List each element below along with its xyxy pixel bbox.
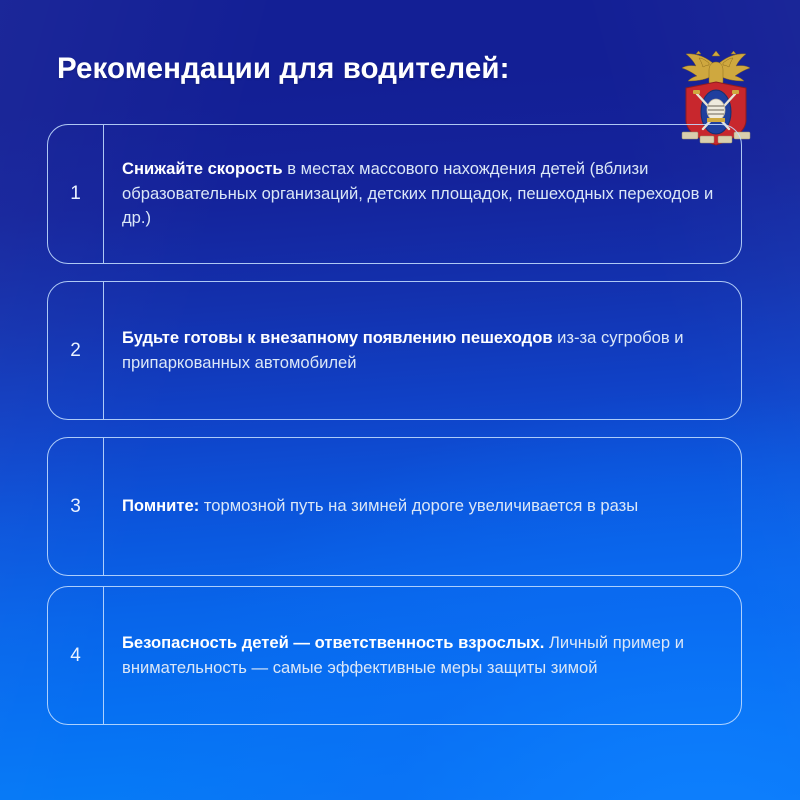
card-text-bold: Безопасность детей — ответственность взр… xyxy=(122,633,544,652)
card-body: Будьте готовы к внезапному появлению пеш… xyxy=(104,282,741,419)
card-text: Снижайте скорость в местах массового нах… xyxy=(122,157,719,230)
card-number: 1 xyxy=(48,125,104,263)
card-body: Безопасность детей — ответственность взр… xyxy=(104,587,741,724)
card-text-bold: Помните: xyxy=(122,496,199,515)
recommendation-card: 3 Помните: тормозной путь на зимней доро… xyxy=(47,437,742,576)
card-number: 3 xyxy=(48,438,104,575)
card-body: Снижайте скорость в местах массового нах… xyxy=(104,125,741,263)
card-number: 2 xyxy=(48,282,104,419)
recommendation-card: 4 Безопасность детей — ответственность в… xyxy=(47,586,742,725)
card-text: Безопасность детей — ответственность взр… xyxy=(122,631,719,680)
recommendation-card: 1 Снижайте скорость в местах массового н… xyxy=(47,124,742,264)
card-text-rest: тормозной путь на зимней дороге увеличив… xyxy=(199,496,638,515)
card-text-bold: Снижайте скорость xyxy=(122,159,283,178)
card-text-bold: Будьте готовы к внезапному появлению пеш… xyxy=(122,328,553,347)
card-body: Помните: тормозной путь на зимней дороге… xyxy=(104,438,741,575)
card-number: 4 xyxy=(48,587,104,724)
recommendation-card: 2 Будьте готовы к внезапному появлению п… xyxy=(47,281,742,420)
card-text: Помните: тормозной путь на зимней дороге… xyxy=(122,494,638,518)
page-title: Рекомендации для водителей: xyxy=(57,52,510,86)
poster-canvas: Рекомендации для водителей: xyxy=(0,0,800,800)
card-text: Будьте готовы к внезапному появлению пеш… xyxy=(122,326,719,375)
